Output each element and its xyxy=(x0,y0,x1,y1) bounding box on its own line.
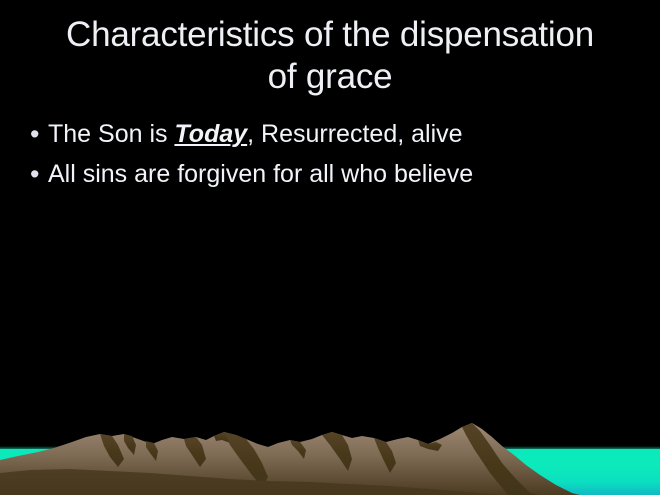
bullet-text-pre: All sins are forgiven for all who believ… xyxy=(48,160,473,188)
bullet-text-pre: The Son is xyxy=(48,120,174,148)
bullet-marker-icon: • xyxy=(30,158,48,191)
bullet-emphasis: Today xyxy=(174,120,247,148)
bullet-marker-icon: • xyxy=(30,118,48,151)
list-item: • The Son is Today, Resurrected, alive xyxy=(30,118,630,151)
bullet-text-post: , Resurrected, alive xyxy=(247,120,462,148)
list-item: • All sins are forgiven for all who beli… xyxy=(30,158,630,191)
presentation-slide: Characteristics of the dispensation of g… xyxy=(0,0,660,495)
bullet-text: The Son is Today, Resurrected, alive xyxy=(48,118,630,151)
slide-title: Characteristics of the dispensation of g… xyxy=(24,14,636,98)
slide-bullet-list: • The Son is Today, Resurrected, alive •… xyxy=(30,118,630,198)
mountain-range-silhouette xyxy=(0,415,660,495)
bullet-text: All sins are forgiven for all who believ… xyxy=(48,158,630,191)
